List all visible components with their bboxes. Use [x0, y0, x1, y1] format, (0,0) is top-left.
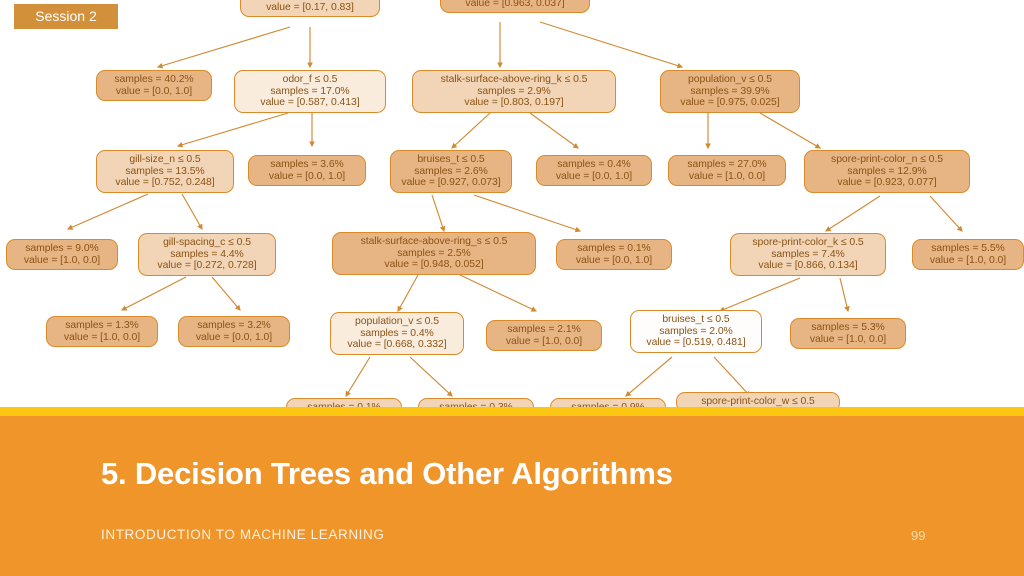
tree-node-value: value = [1.0, 0.0]	[797, 334, 899, 346]
tree-node-samples: samples = 4.4%	[145, 249, 269, 261]
page-title: 5. Decision Trees and Other Algorithms	[101, 456, 673, 492]
tree-node: samples = 3.6%value = [0.0, 1.0]	[248, 155, 366, 186]
tree-node-samples: samples = 12.9%	[811, 166, 963, 178]
tree-node-samples: samples = 17.0%	[241, 86, 379, 98]
tree-node-condition: gill-spacing_c ≤ 0.5	[145, 237, 269, 249]
tree-node-samples: samples = 39.9%	[667, 86, 793, 98]
tree-node: samples = 3.2%value = [0.0, 1.0]	[178, 316, 290, 347]
tree-node-value: value = [0.803, 0.197]	[419, 97, 609, 109]
title-banner: 5. Decision Trees and Other Algorithms I…	[0, 416, 1024, 576]
tree-node: samples = 40.2%value = [0.0, 1.0]	[96, 70, 212, 101]
tree-node-samples: samples = 0.1%	[563, 243, 665, 255]
accent-strip	[0, 407, 1024, 416]
tree-node-value: value = [0.17, 0.83]	[247, 2, 373, 14]
tree-node-condition: odor_f ≤ 0.5	[241, 74, 379, 86]
tree-node-value: value = [0.0, 1.0]	[255, 171, 359, 183]
tree-node-condition: stalk-surface-above-ring_k ≤ 0.5	[419, 74, 609, 86]
tree-edges	[0, 0, 1024, 414]
tree-node-value: value = [0.975, 0.025]	[667, 97, 793, 109]
tree-node-samples: samples = 13.5%	[103, 166, 227, 178]
course-subtitle: INTRODUCTION TO MACHINE LEARNING	[101, 527, 384, 542]
tree-node-value: value = [1.0, 0.0]	[13, 255, 111, 267]
tree-node: spore-print-color_k ≤ 0.5samples = 7.4%v…	[730, 233, 886, 276]
session-badge: Session 2	[14, 4, 118, 29]
tree-node-samples: samples = 0.4%	[543, 159, 645, 171]
tree-node-value: value = [0.923, 0.077]	[811, 177, 963, 189]
tree-node: gill-spacing_c ≤ 0.5samples = 4.4%value …	[138, 233, 276, 276]
tree-node-value: value = [0.0, 1.0]	[103, 86, 205, 98]
tree-node-value: value = [0.587, 0.413]	[241, 97, 379, 109]
tree-node-value: value = [0.519, 0.481]	[637, 337, 755, 349]
decision-tree-figure: samples = 57.2%value = [0.17, 0.83]sampl…	[0, 0, 1024, 414]
tree-node-samples: samples = 2.1%	[493, 324, 595, 336]
tree-node: samples = 42.8%value = [0.963, 0.037]	[440, 0, 590, 13]
page-number: 99	[911, 528, 925, 543]
tree-node-condition: bruises_t ≤ 0.5	[637, 314, 755, 326]
slide-canvas: samples = 57.2%value = [0.17, 0.83]sampl…	[0, 0, 1024, 576]
tree-node: stalk-surface-above-ring_k ≤ 0.5samples …	[412, 70, 616, 113]
tree-node-value: value = [0.0, 1.0]	[185, 332, 283, 344]
tree-node-value: value = [0.752, 0.248]	[103, 177, 227, 189]
tree-node: odor_f ≤ 0.5samples = 17.0%value = [0.58…	[234, 70, 386, 113]
tree-node: samples = 1.3%value = [1.0, 0.0]	[46, 316, 158, 347]
tree-node: samples = 9.0%value = [1.0, 0.0]	[6, 239, 118, 270]
tree-node-value: value = [1.0, 0.0]	[919, 255, 1017, 267]
tree-node: samples = 27.0%value = [1.0, 0.0]	[668, 155, 786, 186]
tree-node-samples: samples = 5.3%	[797, 322, 899, 334]
tree-node-samples: samples = 9.0%	[13, 243, 111, 255]
tree-node-samples: samples = 40.2%	[103, 74, 205, 86]
tree-node: samples = 5.3%value = [1.0, 0.0]	[790, 318, 906, 349]
tree-node-samples: samples = 3.2%	[185, 320, 283, 332]
tree-node-value: value = [0.0, 1.0]	[563, 255, 665, 267]
tree-node: bruises_t ≤ 0.5samples = 2.6%value = [0.…	[390, 150, 512, 193]
tree-node-value: value = [1.0, 0.0]	[675, 171, 779, 183]
tree-node-value: value = [0.963, 0.037]	[447, 0, 583, 9]
tree-node-samples: samples = 2.9%	[419, 86, 609, 98]
tree-node: samples = 2.1%value = [1.0, 0.0]	[486, 320, 602, 351]
tree-node-condition: stalk-surface-above-ring_s ≤ 0.5	[339, 236, 529, 248]
tree-node: samples = 5.5%value = [1.0, 0.0]	[912, 239, 1024, 270]
tree-node: bruises_t ≤ 0.5samples = 2.0%value = [0.…	[630, 310, 762, 353]
tree-node-condition: spore-print-color_w ≤ 0.5	[683, 396, 833, 408]
tree-node-condition: population_v ≤ 0.5	[337, 316, 457, 328]
tree-node: samples = 0.1%value = [0.0, 1.0]	[556, 239, 672, 270]
tree-node: population_v ≤ 0.5samples = 0.4%value = …	[330, 312, 464, 355]
tree-node-value: value = [0.866, 0.134]	[737, 260, 879, 272]
tree-node-samples: samples = 3.6%	[255, 159, 359, 171]
tree-node-condition: population_v ≤ 0.5	[667, 74, 793, 86]
tree-node-samples: samples = 1.3%	[53, 320, 151, 332]
tree-node: stalk-surface-above-ring_s ≤ 0.5samples …	[332, 232, 536, 275]
tree-node-samples: samples = 2.6%	[397, 166, 505, 178]
tree-node-samples: samples = 5.5%	[919, 243, 1017, 255]
tree-node: samples = 57.2%value = [0.17, 0.83]	[240, 0, 380, 17]
tree-node-condition: spore-print-color_k ≤ 0.5	[737, 237, 879, 249]
tree-node: gill-size_n ≤ 0.5samples = 13.5%value = …	[96, 150, 234, 193]
tree-node-value: value = [1.0, 0.0]	[53, 332, 151, 344]
tree-node-value: value = [0.0, 1.0]	[543, 171, 645, 183]
tree-node: samples = 0.4%value = [0.0, 1.0]	[536, 155, 652, 186]
tree-node-value: value = [0.948, 0.052]	[339, 259, 529, 271]
tree-node-value: value = [0.272, 0.728]	[145, 260, 269, 272]
tree-node-condition: gill-size_n ≤ 0.5	[103, 154, 227, 166]
tree-node: population_v ≤ 0.5samples = 39.9%value =…	[660, 70, 800, 113]
tree-node-condition: bruises_t ≤ 0.5	[397, 154, 505, 166]
tree-node-condition: spore-print-color_n ≤ 0.5	[811, 154, 963, 166]
tree-node-samples: samples = 2.0%	[637, 326, 755, 338]
tree-node-samples: samples = 2.5%	[339, 248, 529, 260]
tree-node-samples: samples = 27.0%	[675, 159, 779, 171]
tree-node: spore-print-color_n ≤ 0.5samples = 12.9%…	[804, 150, 970, 193]
tree-node-value: value = [0.927, 0.073]	[397, 177, 505, 189]
tree-node-samples: samples = 0.4%	[337, 328, 457, 340]
tree-node-value: value = [1.0, 0.0]	[493, 336, 595, 348]
tree-node-samples: samples = 7.4%	[737, 249, 879, 261]
tree-node-value: value = [0.668, 0.332]	[337, 339, 457, 351]
